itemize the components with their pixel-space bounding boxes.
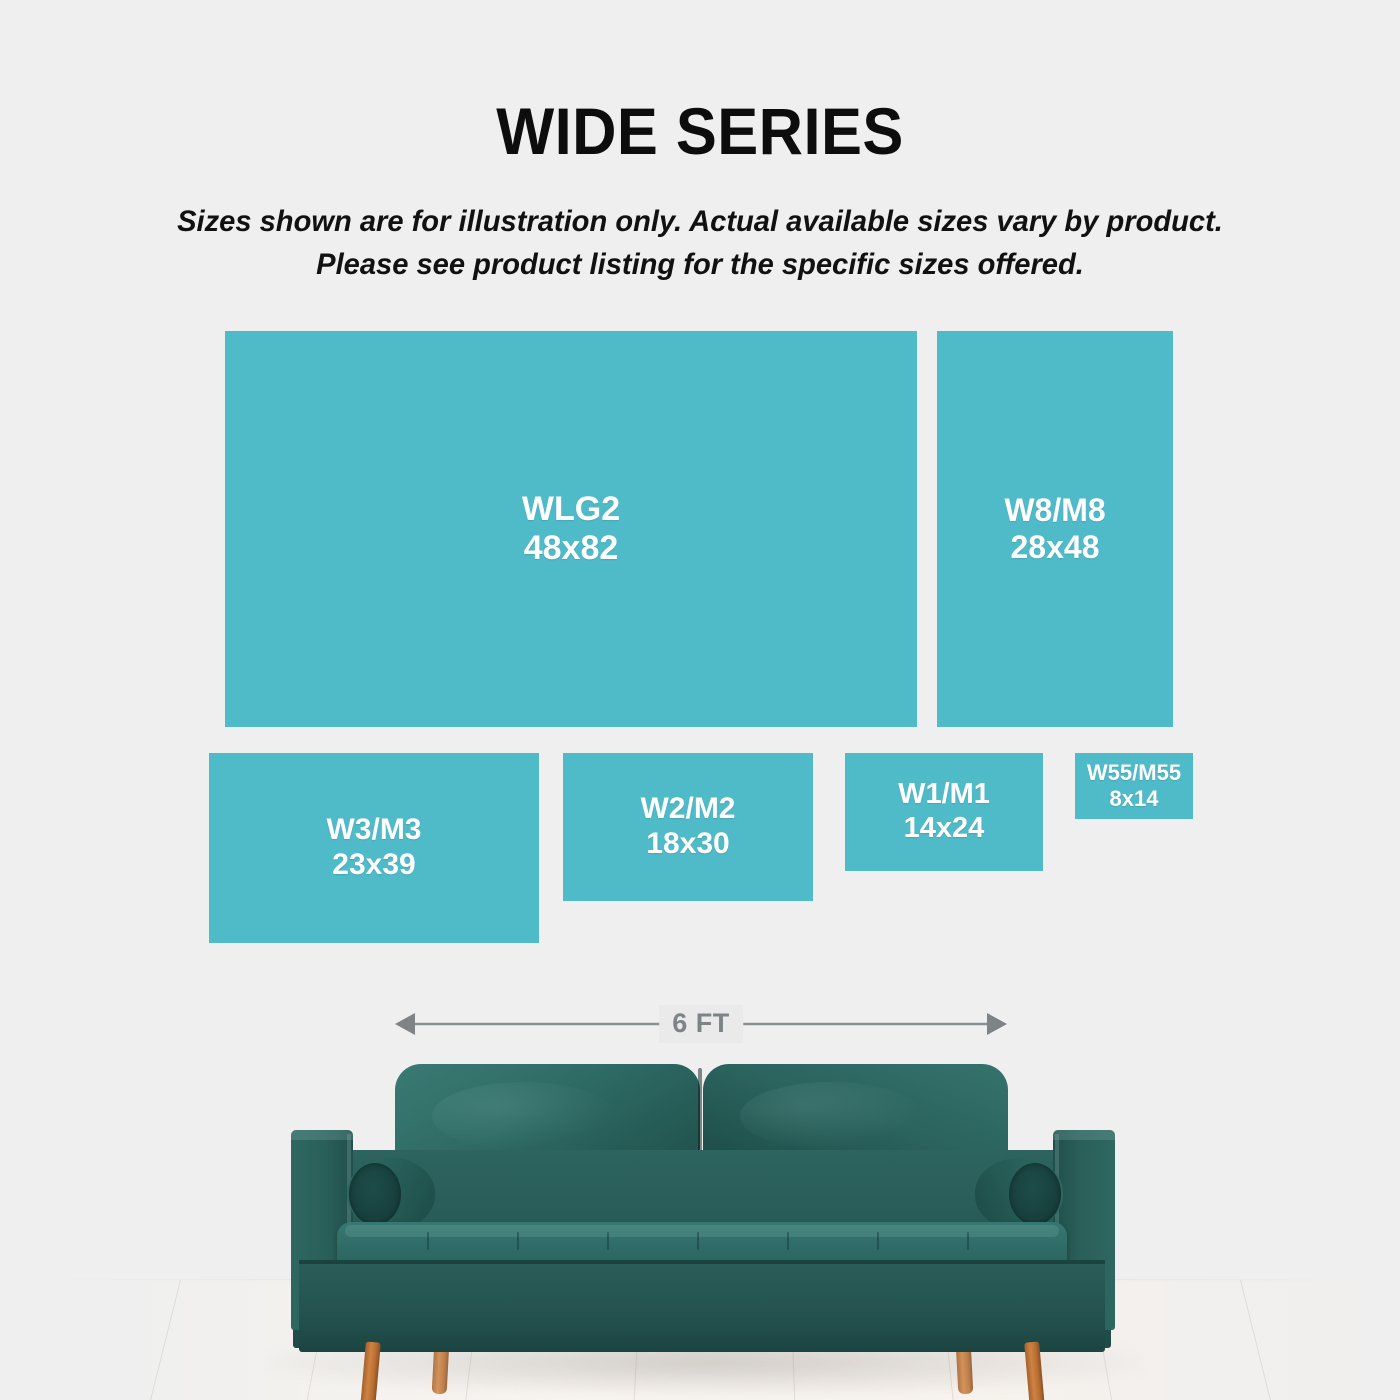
size-swatch-dims: 8x14 [1110, 786, 1159, 812]
size-swatch-w2-m2[interactable]: W2/M2 18x30 [563, 753, 813, 901]
size-swatch-dims: 28x48 [1011, 529, 1100, 566]
size-swatch-w8-m8[interactable]: W8/M8 28x48 [937, 331, 1173, 727]
size-swatch-w55-m55[interactable]: W55/M55 8x14 [1075, 753, 1193, 819]
sofa-bolster-pillow-left [347, 1158, 435, 1230]
size-swatch-code: W55/M55 [1087, 760, 1181, 786]
bolster-end-cap [1009, 1163, 1061, 1225]
cushion-sheen [432, 1082, 615, 1150]
size-swatch-w3-m3[interactable]: W3/M3 23x39 [209, 753, 539, 943]
scale-bar: 6 FT [395, 1000, 1007, 1048]
cushion-sheen [740, 1082, 923, 1150]
scale-label: 6 FT [659, 1005, 743, 1043]
size-swatch-code: W3/M3 [326, 813, 421, 848]
page-subtitle-line-2: Please see product listing for the speci… [167, 243, 1234, 286]
page-title: WIDE SERIES [49, 95, 1351, 167]
size-swatch-wlg2[interactable]: WLG2 48x82 [225, 331, 917, 727]
sofa-image [285, 1050, 1120, 1400]
size-swatch-w1-m1[interactable]: W1/M1 14x24 [845, 753, 1043, 871]
seat-top-edge [345, 1225, 1059, 1237]
size-swatch-dims: 48x82 [524, 529, 619, 568]
bolster-end-cap [349, 1163, 401, 1225]
arm-top-edge [1053, 1130, 1115, 1140]
arm-top-edge [291, 1130, 353, 1140]
size-swatch-code: WLG2 [522, 490, 620, 529]
page-subtitle-line-1: Sizes shown are for illustration only. A… [167, 200, 1234, 243]
size-swatch-dims: 18x30 [646, 827, 729, 862]
page-subtitle: Sizes shown are for illustration only. A… [167, 200, 1234, 286]
size-swatch-dims: 14x24 [904, 812, 985, 846]
sofa-skirt [299, 1260, 1105, 1352]
size-swatch-code: W2/M2 [640, 792, 735, 827]
size-swatch-dims: 23x39 [332, 848, 415, 883]
size-swatch-code: W8/M8 [1004, 492, 1105, 529]
size-chart-page: WIDE SERIES Sizes shown are for illustra… [0, 0, 1400, 1400]
size-swatch-code: W1/M1 [898, 778, 990, 812]
sofa-bolster-pillow-right [975, 1158, 1063, 1230]
